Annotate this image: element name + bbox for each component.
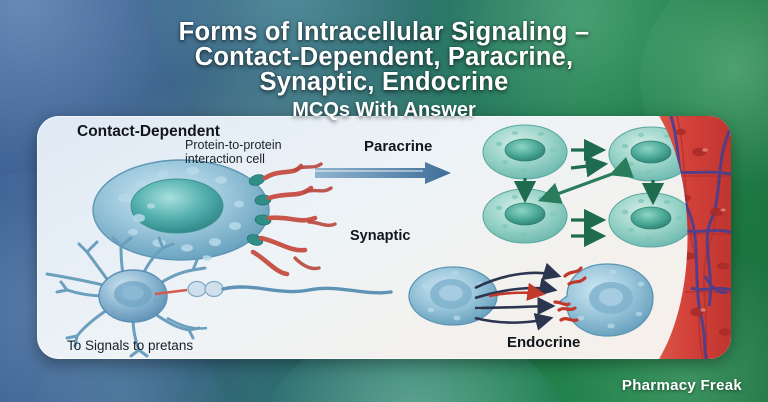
- title-line-2: Contact-Dependent, Paracrine,: [0, 45, 768, 70]
- synaptic-vesicles: [188, 282, 223, 297]
- title-line-3: Synaptic, Endocrine: [0, 70, 768, 95]
- label-synaptic: Synaptic: [350, 228, 410, 244]
- paracrine-cell-4: [609, 193, 693, 247]
- protein-note-line-1: Protein-to-protein: [185, 138, 282, 152]
- page-title: Forms of Intracellular Signaling – Conta…: [0, 20, 768, 95]
- label-signal-note: To Signals to pretans: [67, 338, 193, 353]
- label-protein-note: Protein-to-protein interaction cell: [185, 138, 282, 166]
- page-subtitle: MCQs With Answer: [0, 99, 768, 122]
- protein-note-line-2: interaction cell: [185, 152, 265, 166]
- title-block: Forms of Intracellular Signaling – Conta…: [0, 20, 768, 122]
- paracrine-cell-1: [483, 125, 567, 179]
- endocrine-target-cell: [555, 264, 653, 336]
- diagram-canvas: Contact-Dependent Protein-to-protein int…: [37, 116, 731, 359]
- label-endocrine: Endocrine: [507, 334, 580, 351]
- paracrine-group: [483, 125, 693, 247]
- label-paracrine: Paracrine: [364, 138, 432, 155]
- axon: [223, 287, 391, 293]
- contact-to-paracrine-arrow: [315, 162, 451, 184]
- title-line-1: Forms of Intracellular Signaling –: [0, 20, 768, 45]
- contact-dependent-cell: [93, 160, 335, 274]
- brand-watermark: Pharmacy Freak: [622, 377, 742, 394]
- diagram-card: Contact-Dependent Protein-to-protein int…: [37, 116, 731, 359]
- poster: Forms of Intracellular Signaling – Conta…: [0, 0, 768, 402]
